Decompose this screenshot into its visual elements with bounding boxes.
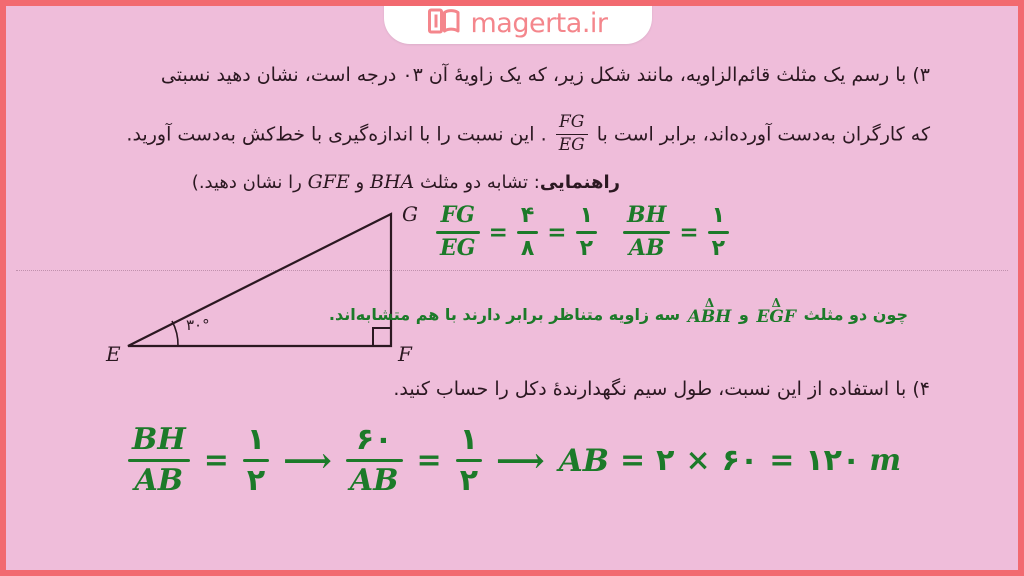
note-end: سه زاویه متناظر برابر دارند با هم متشابه… — [329, 305, 680, 324]
brand-text: magerta.ir — [470, 10, 607, 37]
numerator-4: ۴ — [517, 204, 538, 228]
hint-triangle-2: EFG — [308, 171, 350, 193]
fraction-fg-over-eg: FG EG — [436, 204, 480, 261]
denominator-2: ۲ — [708, 237, 729, 261]
ab-denominator: AB — [623, 237, 670, 261]
vertex-label-F: F — [398, 342, 412, 366]
question-3-line-2: که کارگران به‌دست آورده‌اند، برابر است ب… — [70, 114, 930, 155]
bh-numerator: BH — [623, 204, 670, 228]
fraction-bar — [243, 459, 269, 462]
question-4-line: ۴) با استفاده از این نسبت، طول سیم نگهدا… — [393, 378, 930, 402]
equals-sign-4: = — [769, 443, 794, 478]
angle-arc — [172, 321, 178, 346]
fraction-1-over-2-b: ۱ ۲ — [708, 204, 729, 261]
arrow-icon: ⟶ — [496, 441, 545, 481]
result-value-120: ۱۲۰ — [805, 443, 860, 478]
fraction-bh-over-ab: BH AB — [623, 204, 670, 261]
right-angle-marker — [373, 328, 391, 346]
answer-4-equation: BH AB = ۱ ۲ ⟶ ۶۰ AB = ۱ ۲ ⟶ AB = ۲ × ۶۰ … — [128, 424, 901, 498]
note-conjunction: و — [739, 305, 749, 324]
fraction-4-over-8: ۴ ۸ — [517, 204, 538, 261]
fraction-bar — [517, 231, 538, 234]
result-lhs-ab: AB — [559, 443, 609, 479]
hint-tail: را نشان دهید.) — [192, 172, 302, 193]
equals-sign-2: = — [547, 219, 566, 246]
hint-conjunction: و — [356, 172, 365, 193]
fraction-bar — [436, 231, 480, 234]
fraction-60-over-ab: ۶۰ AB — [346, 424, 403, 498]
answer-3-similarity-note: چون دو مثلث Δ EGF و Δ ABH سه زاویه متناظ… — [329, 298, 908, 326]
fraction-bar — [346, 459, 403, 462]
equals-sign-1: = — [489, 219, 508, 246]
triangle-name: ABH — [688, 309, 732, 325]
equals-sign-1: = — [204, 443, 229, 478]
numerator-1: ۱ — [456, 424, 482, 456]
bh-numerator: BH — [128, 424, 190, 456]
fraction-fg-eg: FG EG — [556, 114, 588, 155]
fraction-bar — [576, 231, 597, 234]
q3-line2-before: که کارگران به‌دست آورده‌اند، برابر است ب… — [597, 124, 930, 146]
arrow-icon: ⟶ — [283, 441, 332, 481]
fraction-1-over-2-a: ۱ ۲ — [576, 204, 597, 261]
fraction-bh-over-ab: BH AB — [128, 424, 190, 498]
fraction-1-over-2-a: ۱ ۲ — [243, 424, 269, 498]
factor-2: ۲ — [656, 443, 674, 478]
hint-body: : تشابه دو مثلث — [420, 172, 540, 193]
question-3-line-1: ۳) با رسم یک مثلث قائم‌الزاویه، مانند شک… — [82, 64, 930, 88]
fg-numerator: FG — [436, 204, 480, 228]
hint-label: راهنمایی — [540, 172, 620, 193]
fraction-1-over-2-b: ۱ ۲ — [456, 424, 482, 498]
numerator-1: ۱ — [243, 424, 269, 456]
fraction-denominator: EG — [556, 137, 588, 155]
denominator-2: ۲ — [576, 237, 597, 261]
ab-denominator: AB — [128, 465, 190, 497]
question-3-hint: راهنمایی: تشابه دو مثلث AHB و EFG را نشا… — [192, 171, 620, 193]
unit-meters: m — [869, 443, 901, 478]
numerator-60: ۶۰ — [346, 424, 403, 456]
triangle-figure: G E F ۳۰° — [106, 194, 436, 378]
note-start: چون دو مثلث — [804, 305, 908, 324]
fraction-bar — [623, 231, 670, 234]
angle-label-30-degrees: ۳۰° — [186, 316, 210, 334]
open-book-icon — [428, 8, 460, 38]
numerator-1: ۱ — [708, 204, 729, 228]
fraction-bar — [708, 231, 729, 234]
triangle-svg — [106, 194, 436, 374]
vertex-label-G: G — [402, 202, 418, 226]
denominator-2: ۲ — [456, 465, 482, 497]
watermark-logo: magerta.ir — [384, 0, 652, 44]
fraction-bar — [128, 459, 190, 462]
equals-sign-3: = — [679, 219, 698, 246]
fraction-numerator: FG — [556, 114, 588, 132]
q3-line2-after: . این نسبت را با اندازه‌گیری با خط‌کش به… — [126, 124, 546, 146]
worksheet-page: magerta.ir ۳) با رسم یک مثلث قائم‌الزاوی… — [0, 0, 1024, 576]
hint-triangle-1: AHB — [370, 171, 414, 193]
vertex-label-E: E — [106, 342, 121, 366]
equals-sign-3: = — [620, 443, 645, 478]
equals-sign-2: = — [417, 443, 442, 478]
numerator-1: ۱ — [576, 204, 597, 228]
denominator-2: ۲ — [243, 465, 269, 497]
factor-60: ۶۰ — [722, 443, 759, 478]
fraction-bar — [456, 459, 482, 462]
triangle-outline — [128, 214, 391, 346]
triangle-symbol-egf: Δ EGF — [756, 298, 796, 326]
denominator-8: ۸ — [517, 237, 538, 261]
ab-denominator: AB — [346, 465, 403, 497]
triangle-name: EGF — [756, 309, 796, 325]
multiplication-sign: × — [685, 443, 710, 478]
triangle-symbol-abh: Δ ABH — [688, 298, 732, 326]
eg-denominator: EG — [436, 237, 480, 261]
answer-3-ratios: FG EG = ۴ ۸ = ۱ ۲ BH AB = ۱ ۲ — [436, 204, 729, 261]
